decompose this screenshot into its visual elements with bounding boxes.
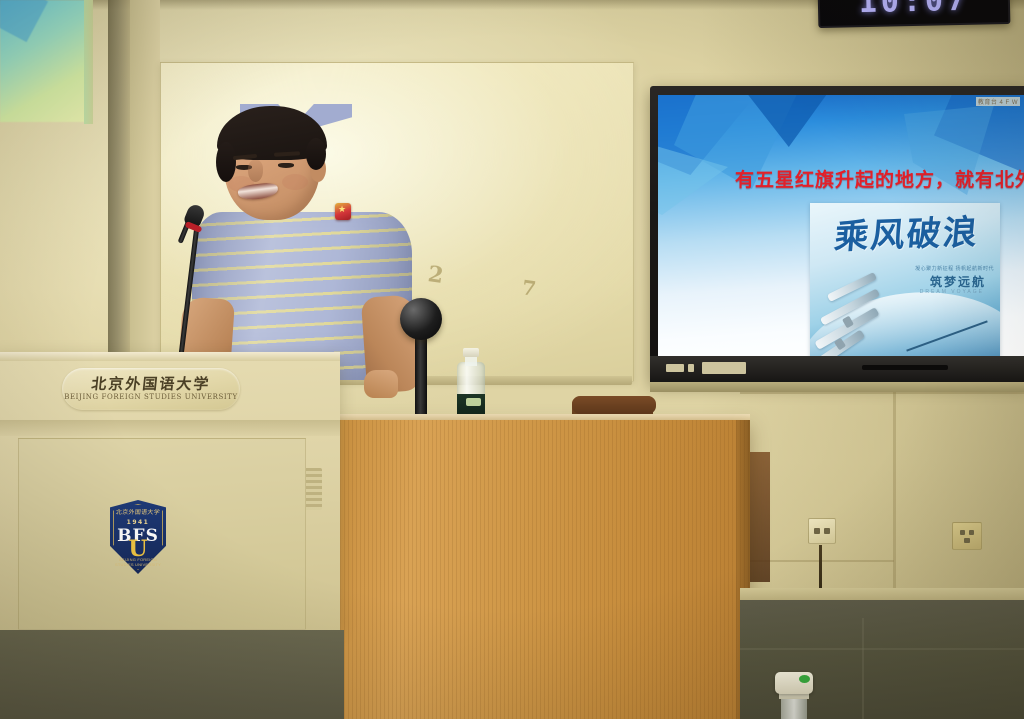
- display-control-panel[interactable]: [702, 362, 746, 374]
- wall-pillar-shadow: [108, 0, 130, 352]
- carpet-seam-1: [862, 618, 864, 719]
- star-icon: ★: [338, 205, 346, 214]
- side-projection-screen: [0, 0, 86, 122]
- display-button[interactable]: [688, 364, 694, 372]
- floor-bottle-body: [781, 698, 807, 719]
- clock-time: 10:07: [820, 0, 1009, 21]
- bottle-label-logo: [466, 398, 481, 406]
- crest-year: 1941: [110, 519, 166, 526]
- crest-arc-text: BEIJING FOREIGN STUDIES UNIVERSITY: [110, 557, 166, 567]
- university-lectern-band: [0, 420, 340, 436]
- display-ir-sensor: [862, 365, 948, 370]
- ball-microphone: [400, 298, 442, 340]
- outlet-socket-1: [814, 528, 820, 534]
- poster-caption-small: 凝心聚力新征程 扬帆起航新时代: [810, 265, 994, 272]
- hair-sideburn: [216, 142, 236, 182]
- poster-subtitle-cn: 筑梦远航: [810, 273, 986, 290]
- screen-triangle-shape: [0, 0, 48, 42]
- poster-calligraphy: 乘风破浪: [816, 204, 999, 259]
- floor-bottle-cap-accent: [799, 675, 810, 683]
- carpet-seam-2: [740, 648, 1024, 650]
- power-socket-2: [969, 530, 974, 535]
- lecture-hall-photo: 10:07 2 7 有五星红旗升起的地方，就有北外人的: [0, 0, 1024, 719]
- nameplate-chinese: 北京外国语大学: [61, 373, 241, 394]
- floor-bottle-cap: [775, 672, 813, 694]
- hair-side-right: [306, 138, 326, 170]
- university-crest: 北京外国语大学 1941 BFS U BEIJING FOREIGN STUDI…: [110, 500, 166, 574]
- water-bottle-floor: [772, 672, 816, 719]
- wall-pillar: [130, 0, 160, 352]
- lectern-nameplate: 北京外国语大学 BEIJING FOREIGN STUDIES UNIVERSI…: [62, 368, 240, 410]
- data-outlet[interactable]: [808, 518, 836, 544]
- university-lectern-top: [0, 352, 340, 361]
- outlet-socket-2: [824, 528, 830, 534]
- side-screen-edge: [84, 0, 93, 124]
- cheek-right: [282, 174, 308, 190]
- bottle-label: [457, 394, 485, 416]
- wall-display: 有五星红旗升起的地方，就有北外人的 乘风破浪 凝心聚力新征程 扬帆起航新时代 筑…: [650, 86, 1024, 382]
- wood-lectern: [332, 420, 750, 719]
- display-bottom-bezel: [650, 356, 1024, 382]
- wall-seam-vertical: [893, 392, 896, 592]
- chair-backrest: [572, 396, 656, 414]
- bottle-cap: [463, 348, 479, 357]
- right-hand: [364, 370, 398, 398]
- display-screen: 有五星红旗升起的地方，就有北外人的 乘风破浪 凝心聚力新征程 扬帆起航新时代 筑…: [658, 95, 1024, 356]
- slide-headline: 有五星红旗升起的地方，就有北外人的: [722, 165, 1024, 192]
- digital-wall-clock: 10:07: [818, 0, 1011, 28]
- eye-right: [278, 163, 294, 168]
- slide-poster: 乘风破浪 凝心聚力新征程 扬帆起航新时代 筑梦远航 DREAM VOYAGE: [810, 203, 1000, 356]
- power-socket-1: [960, 530, 965, 535]
- wall-seam-horizontal: [740, 392, 1024, 394]
- presentation-slide: 有五星红旗升起的地方，就有北外人的 乘风破浪 凝心聚力新征程 扬帆起航新时代 筑…: [658, 95, 1024, 356]
- ball-microphone-stem: [415, 334, 427, 426]
- party-emblem-pin: ★: [335, 203, 351, 220]
- carpet-floor-left: [0, 630, 344, 719]
- display-corner-label: 教育台 4 F W: [976, 97, 1020, 106]
- crest-chinese-name: 北京外国语大学: [110, 507, 167, 516]
- display-shelf: [650, 382, 1024, 392]
- speaker-person: ★: [186, 108, 416, 378]
- poster-subtitle-en: DREAM VOYAGE: [810, 289, 984, 295]
- power-socket-3: [964, 538, 970, 543]
- nameplate-english: BEIJING FOREIGN STUDIES UNIVERSITY: [62, 393, 240, 401]
- power-outlet[interactable]: [952, 522, 982, 550]
- display-usb-port[interactable]: [666, 364, 684, 372]
